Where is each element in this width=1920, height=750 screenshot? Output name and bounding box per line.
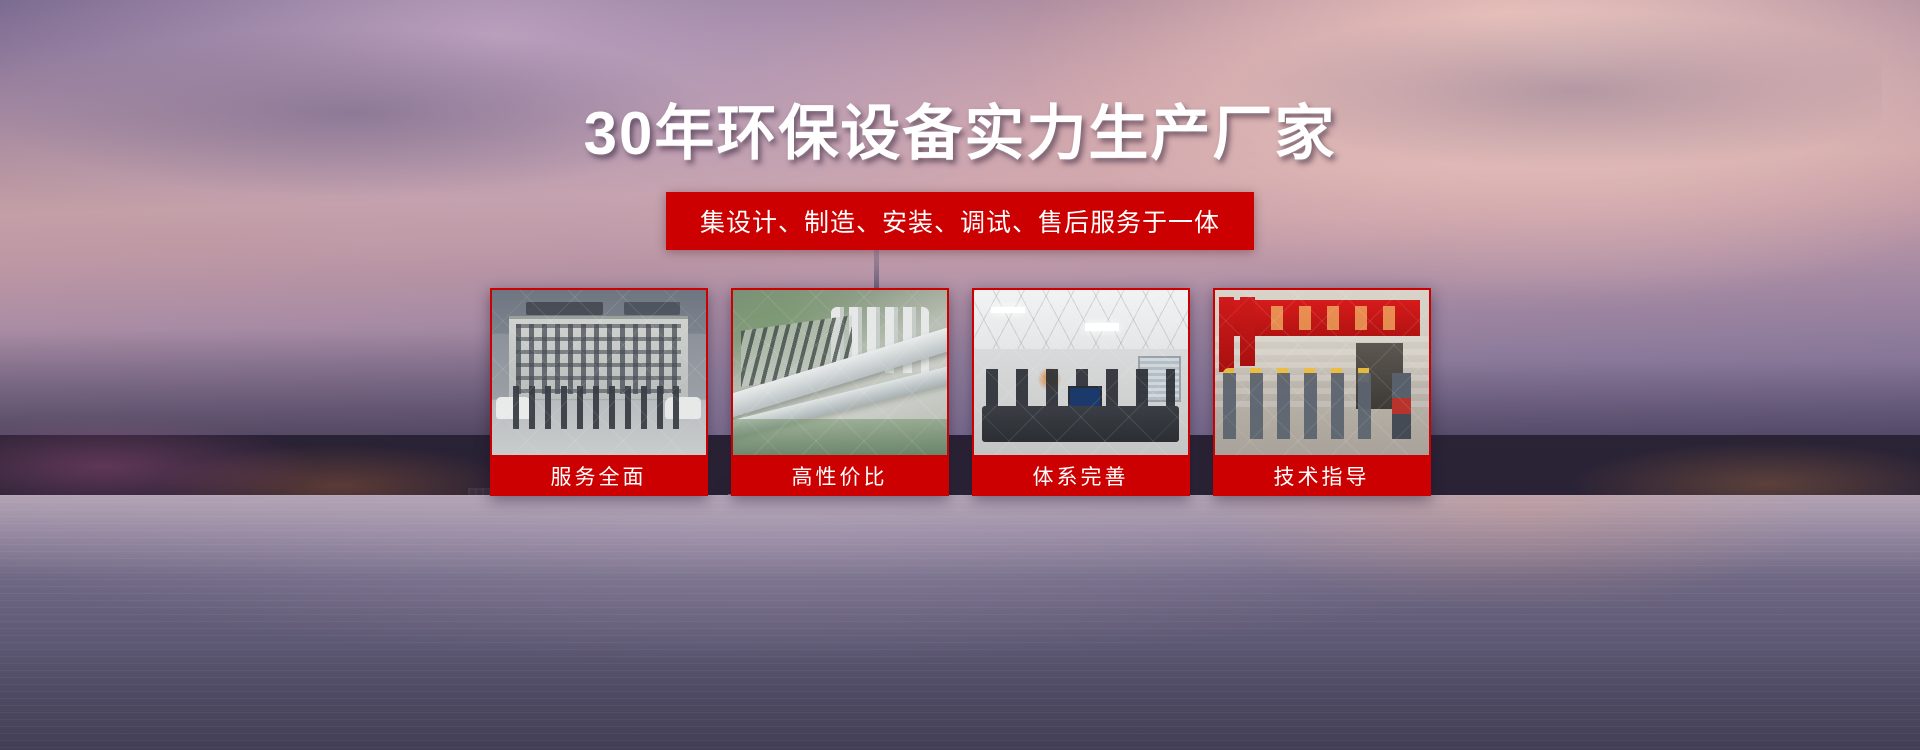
card-caption: 体系完善 (974, 455, 1188, 496)
building-sign-right (624, 302, 680, 315)
red-vertical-banner-2 (1240, 297, 1255, 366)
card-photo-service (492, 290, 706, 455)
red-vertical-banner-1 (1219, 297, 1234, 373)
feature-card[interactable]: 高性价比 (731, 288, 949, 496)
feature-card[interactable]: 体系完善 (972, 288, 1190, 496)
card-caption: 高性价比 (733, 455, 947, 496)
feature-card-list: 服务全面 高性价比 (490, 288, 1431, 496)
card-photo-training (1215, 290, 1429, 455)
hero-banner: 30年环保设备实力生产厂家 集设计、制造、安装、调试、售后服务于一体 服务全面 (0, 0, 1920, 750)
feature-card[interactable]: 服务全面 (490, 288, 708, 496)
card-caption: 服务全面 (492, 455, 706, 496)
building-sign-left (526, 302, 603, 315)
staff-row (513, 386, 684, 429)
card-photo-plant (733, 290, 947, 455)
office-desk (982, 406, 1179, 442)
page-title: 30年环保设备实力生产厂家 (584, 104, 1337, 164)
worker-row (1223, 373, 1381, 439)
banner-content: 30年环保设备实力生产厂家 集设计、制造、安装、调试、售后服务于一体 服务全面 (0, 0, 1920, 750)
card-caption: 技术指导 (1215, 455, 1429, 496)
ground-vegetation (733, 419, 947, 455)
office-ceiling (974, 290, 1188, 349)
instructor-figure (1392, 373, 1411, 439)
card-photo-office (974, 290, 1188, 455)
subtitle-badge: 集设计、制造、安装、调试、售后服务于一体 (666, 192, 1254, 250)
feature-card[interactable]: 技术指导 (1213, 288, 1431, 496)
ceiling-light-right (1085, 323, 1119, 331)
red-horizontal-banner (1227, 300, 1420, 336)
ceiling-light-left (991, 307, 1025, 314)
